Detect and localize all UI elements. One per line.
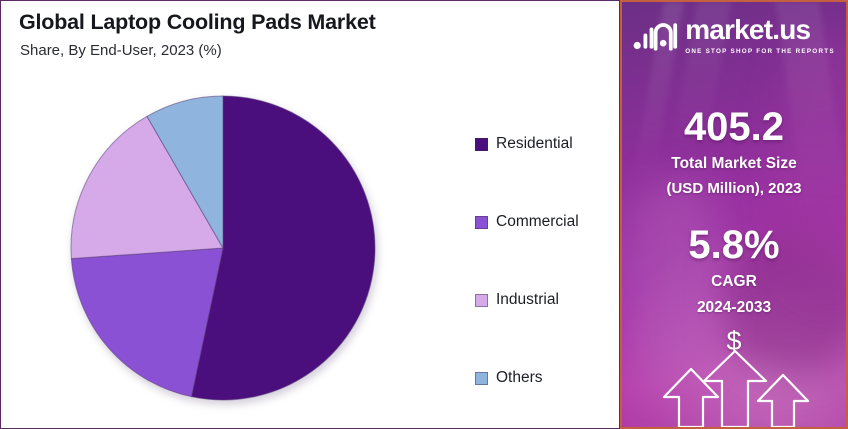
growth-arrows-icon xyxy=(622,349,846,427)
legend-item-industrial[interactable]: Industrial xyxy=(475,261,615,339)
market-us-logo-icon xyxy=(633,19,679,53)
legend-swatch-icon xyxy=(475,294,488,307)
market-size-label-line2: (USD Million), 2023 xyxy=(622,180,846,199)
market-size-stat: 405.2 Total Market Size (USD Million), 2… xyxy=(622,106,846,199)
page-title: Global Laptop Cooling Pads Market xyxy=(19,10,376,35)
legend-item-label: Industrial xyxy=(496,291,559,309)
legend-swatch-icon xyxy=(475,138,488,151)
legend-item-others[interactable]: Others xyxy=(475,339,615,417)
brand-content: market.us ONE STOP SHOP FOR THE REPORTS … xyxy=(622,2,846,427)
legend-item-residential[interactable]: Residential xyxy=(475,105,615,183)
pie-chart-svg xyxy=(70,95,376,401)
chart-panel: Global Laptop Cooling Pads Market Share,… xyxy=(0,0,620,429)
infographic-root: Global Laptop Cooling Pads Market Share,… xyxy=(0,0,848,429)
legend-swatch-icon xyxy=(475,372,488,385)
cagr-value: 5.8% xyxy=(622,224,846,266)
brand-panel: market.us ONE STOP SHOP FOR THE REPORTS … xyxy=(620,0,848,429)
legend-item-label: Commercial xyxy=(496,213,579,231)
cagr-stat: 5.8% CAGR 2024-2033 xyxy=(622,224,846,317)
pie-chart xyxy=(70,95,376,401)
market-size-value: 405.2 xyxy=(622,106,846,148)
brand-name: market.us xyxy=(685,16,835,44)
market-size-label-line1: Total Market Size xyxy=(622,154,846,174)
legend-item-commercial[interactable]: Commercial xyxy=(475,183,615,261)
legend-swatch-icon xyxy=(475,216,488,229)
cagr-period: 2024-2033 xyxy=(622,298,846,318)
cagr-label: CAGR xyxy=(622,272,846,292)
page-subtitle: Share, By End-User, 2023 (%) xyxy=(20,42,222,59)
brand-tagline: ONE STOP SHOP FOR THE REPORTS xyxy=(685,48,835,55)
chart-legend: Residential Commercial Industrial Others xyxy=(475,105,615,417)
legend-item-label: Others xyxy=(496,369,543,387)
brand-logo-text: market.us ONE STOP SHOP FOR THE REPORTS xyxy=(685,16,835,55)
legend-item-label: Residential xyxy=(496,135,573,153)
brand-logo[interactable]: market.us ONE STOP SHOP FOR THE REPORTS xyxy=(622,16,846,55)
